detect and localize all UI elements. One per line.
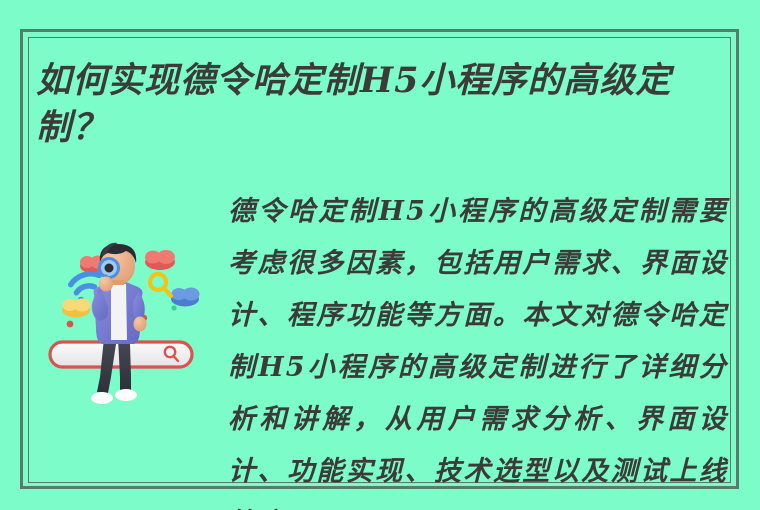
dot-green2-icon: [171, 305, 176, 310]
article-body: 德令哈定制H5小程序的高级定制需要考虑很多因素，包括用户需求、界面设计、程序功能…: [228, 186, 728, 510]
cloud-blue-icon: [171, 288, 200, 307]
hand-left: [99, 277, 113, 292]
page-canvas: 如何实现德令哈定制H5小程序的高级定制？: [0, 0, 760, 510]
shoe-left: [91, 392, 113, 404]
cloud-yellow-icon: [62, 299, 91, 318]
page-title: 如何实现德令哈定制H5小程序的高级定制？: [36, 57, 728, 151]
cloud-red-right-icon: [145, 250, 175, 270]
dot-red-icon: [67, 321, 74, 328]
illustration-person-on-search-bar: [48, 232, 224, 412]
shoe-right: [115, 389, 137, 401]
magnifier-small-icon: [150, 274, 171, 296]
hand-right: [134, 317, 147, 332]
character-figure: [91, 243, 147, 404]
